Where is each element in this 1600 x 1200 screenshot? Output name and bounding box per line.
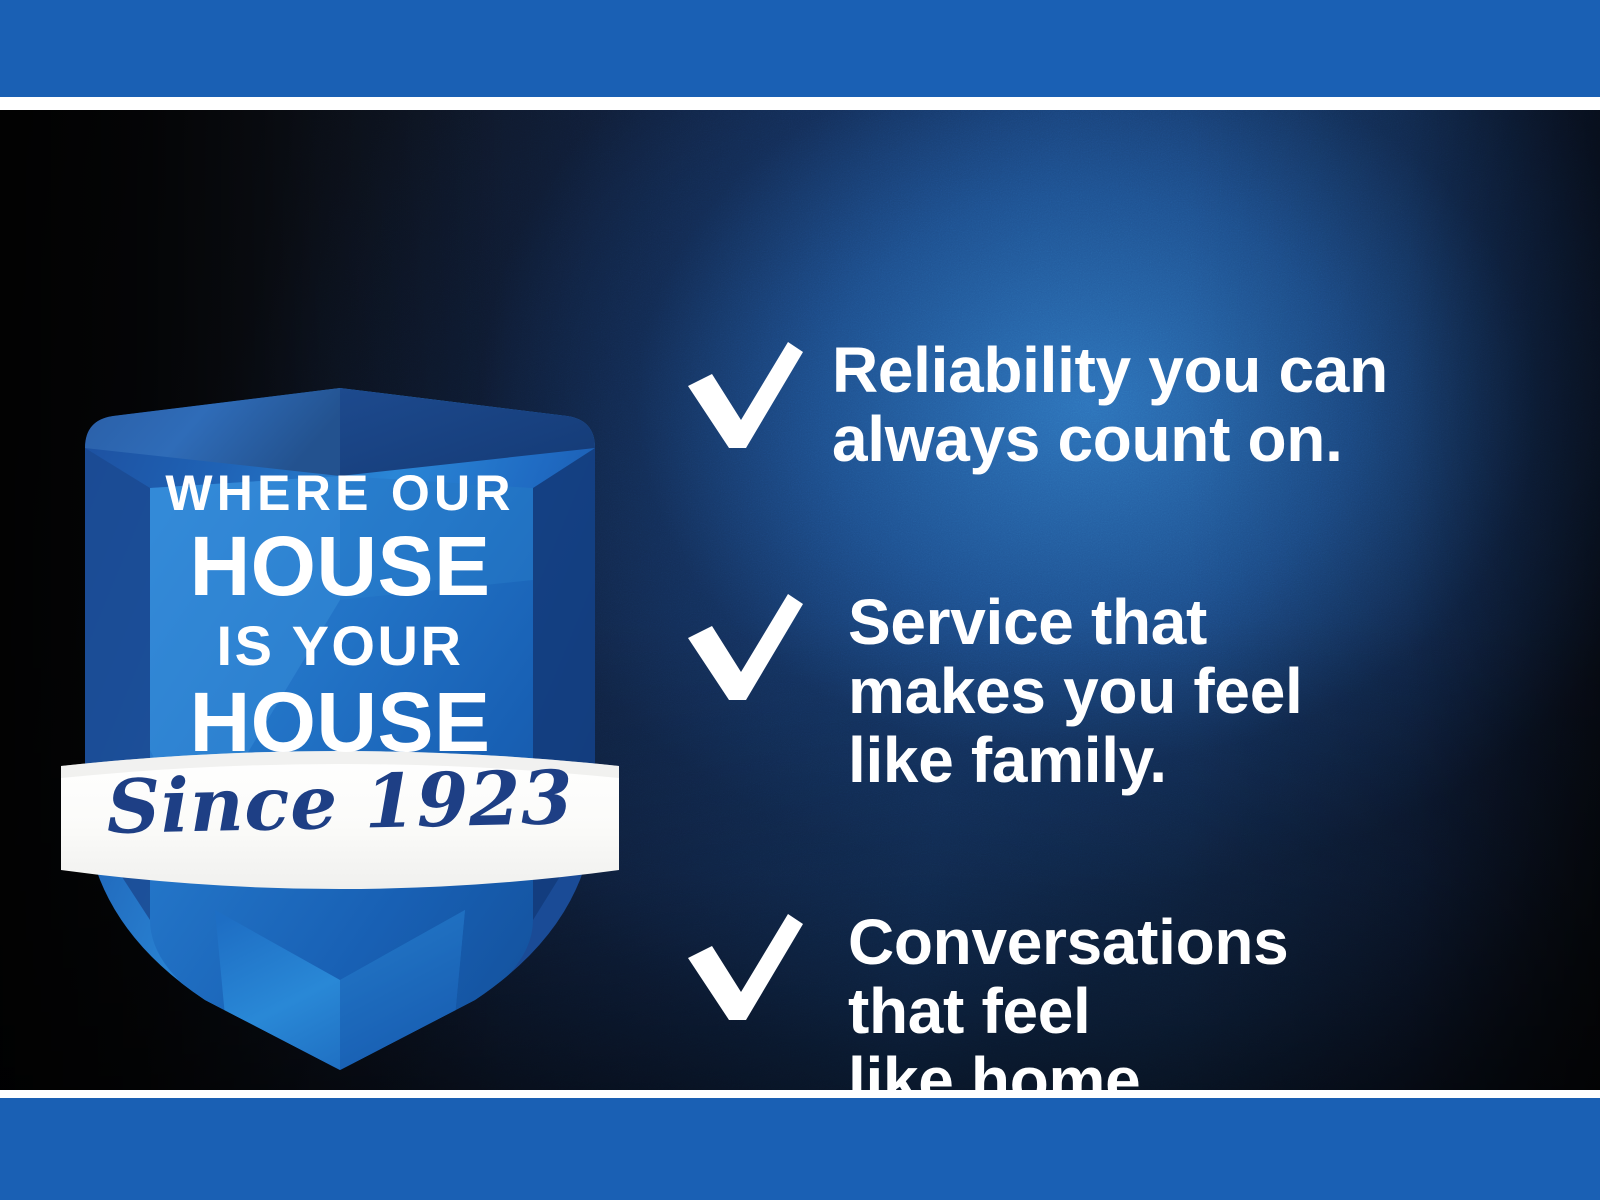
benefit-text-service: Service that makes you feel like family. — [848, 578, 1302, 795]
benefit-text-conversations: Conversations that feel like home. — [848, 898, 1288, 1090]
promotional-graphic: WHERE OUR HOUSE IS YOUR HOUSE Since 1923… — [0, 0, 1600, 1200]
top-brand-bar — [0, 0, 1600, 97]
benefit-item-reliability: Reliability you can always count on. — [672, 326, 1388, 474]
main-panel: WHERE OUR HOUSE IS YOUR HOUSE Since 1923… — [0, 110, 1600, 1090]
benefit-item-conversations: Conversations that feel like home. — [672, 898, 1288, 1090]
checkmark-icon — [672, 334, 804, 454]
benefit-item-service: Service that makes you feel like family. — [672, 578, 1302, 795]
checkmark-icon — [672, 586, 804, 706]
benefit-text-reliability: Reliability you can always count on. — [832, 326, 1388, 474]
shield-badge: WHERE OUR HOUSE IS YOUR HOUSE Since 1923 — [55, 280, 625, 1070]
bottom-brand-bar — [0, 1098, 1600, 1200]
checkmark-icon — [672, 906, 804, 1026]
